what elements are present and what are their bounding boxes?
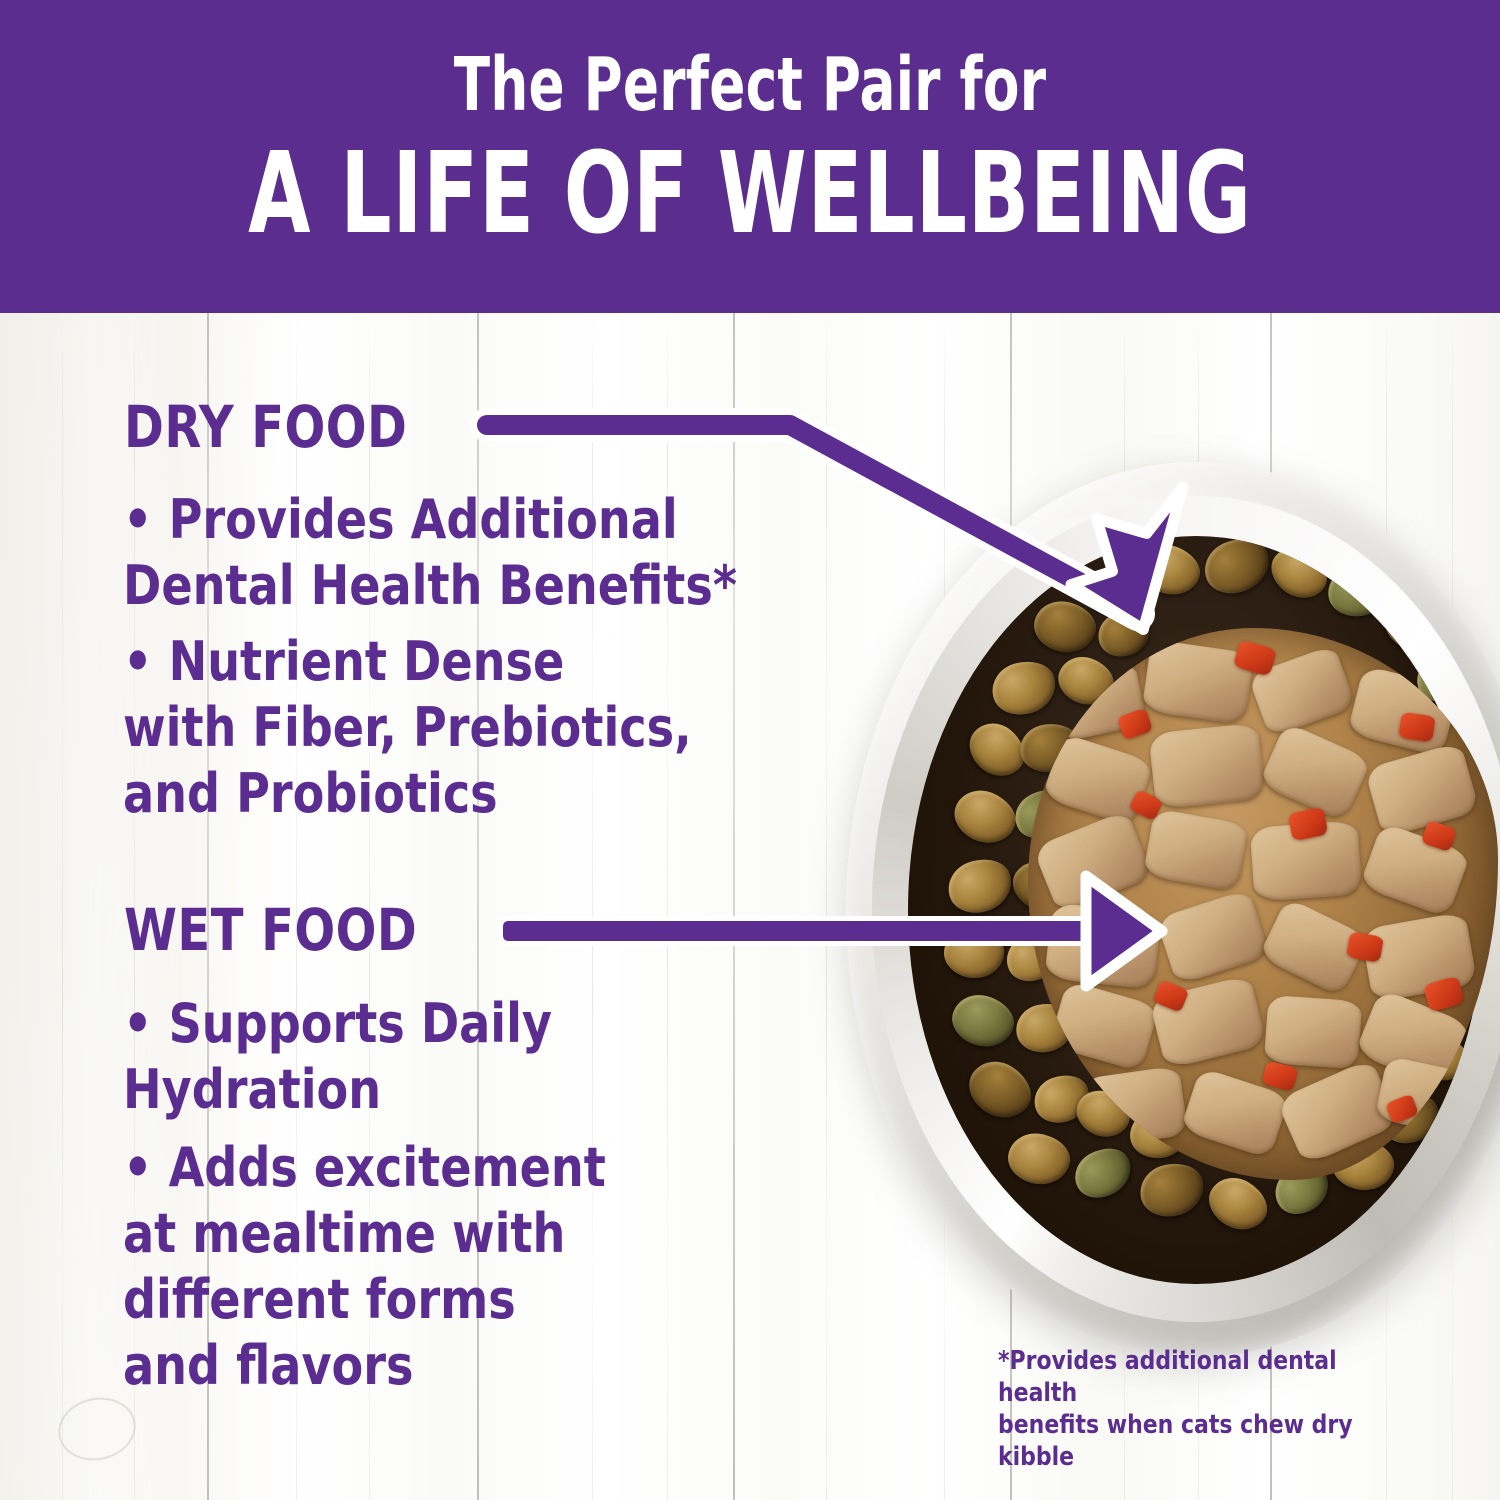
section-heading-dry-food: DRY FOOD: [124, 398, 407, 456]
footnote-disclaimer: *Provides additional dental health benef…: [998, 1345, 1393, 1473]
section-heading-wet-food: WET FOOD: [124, 901, 417, 959]
bullet-wet-2: • Adds excitement at mealtime with diffe…: [123, 1135, 606, 1399]
bullet-wet-1: • Supports Daily Hydration: [123, 991, 552, 1123]
copy-layer: DRY FOOD • Provides Additional Dental He…: [0, 0, 1500, 1500]
bullet-dry-1: • Provides Additional Dental Health Bene…: [123, 487, 737, 619]
bullet-dry-2: • Nutrient Dense with Fiber, Prebiotics,…: [123, 629, 692, 827]
promo-infographic: The Perfect Pair for A LIFE OF WELLBEING: [0, 0, 1500, 1500]
